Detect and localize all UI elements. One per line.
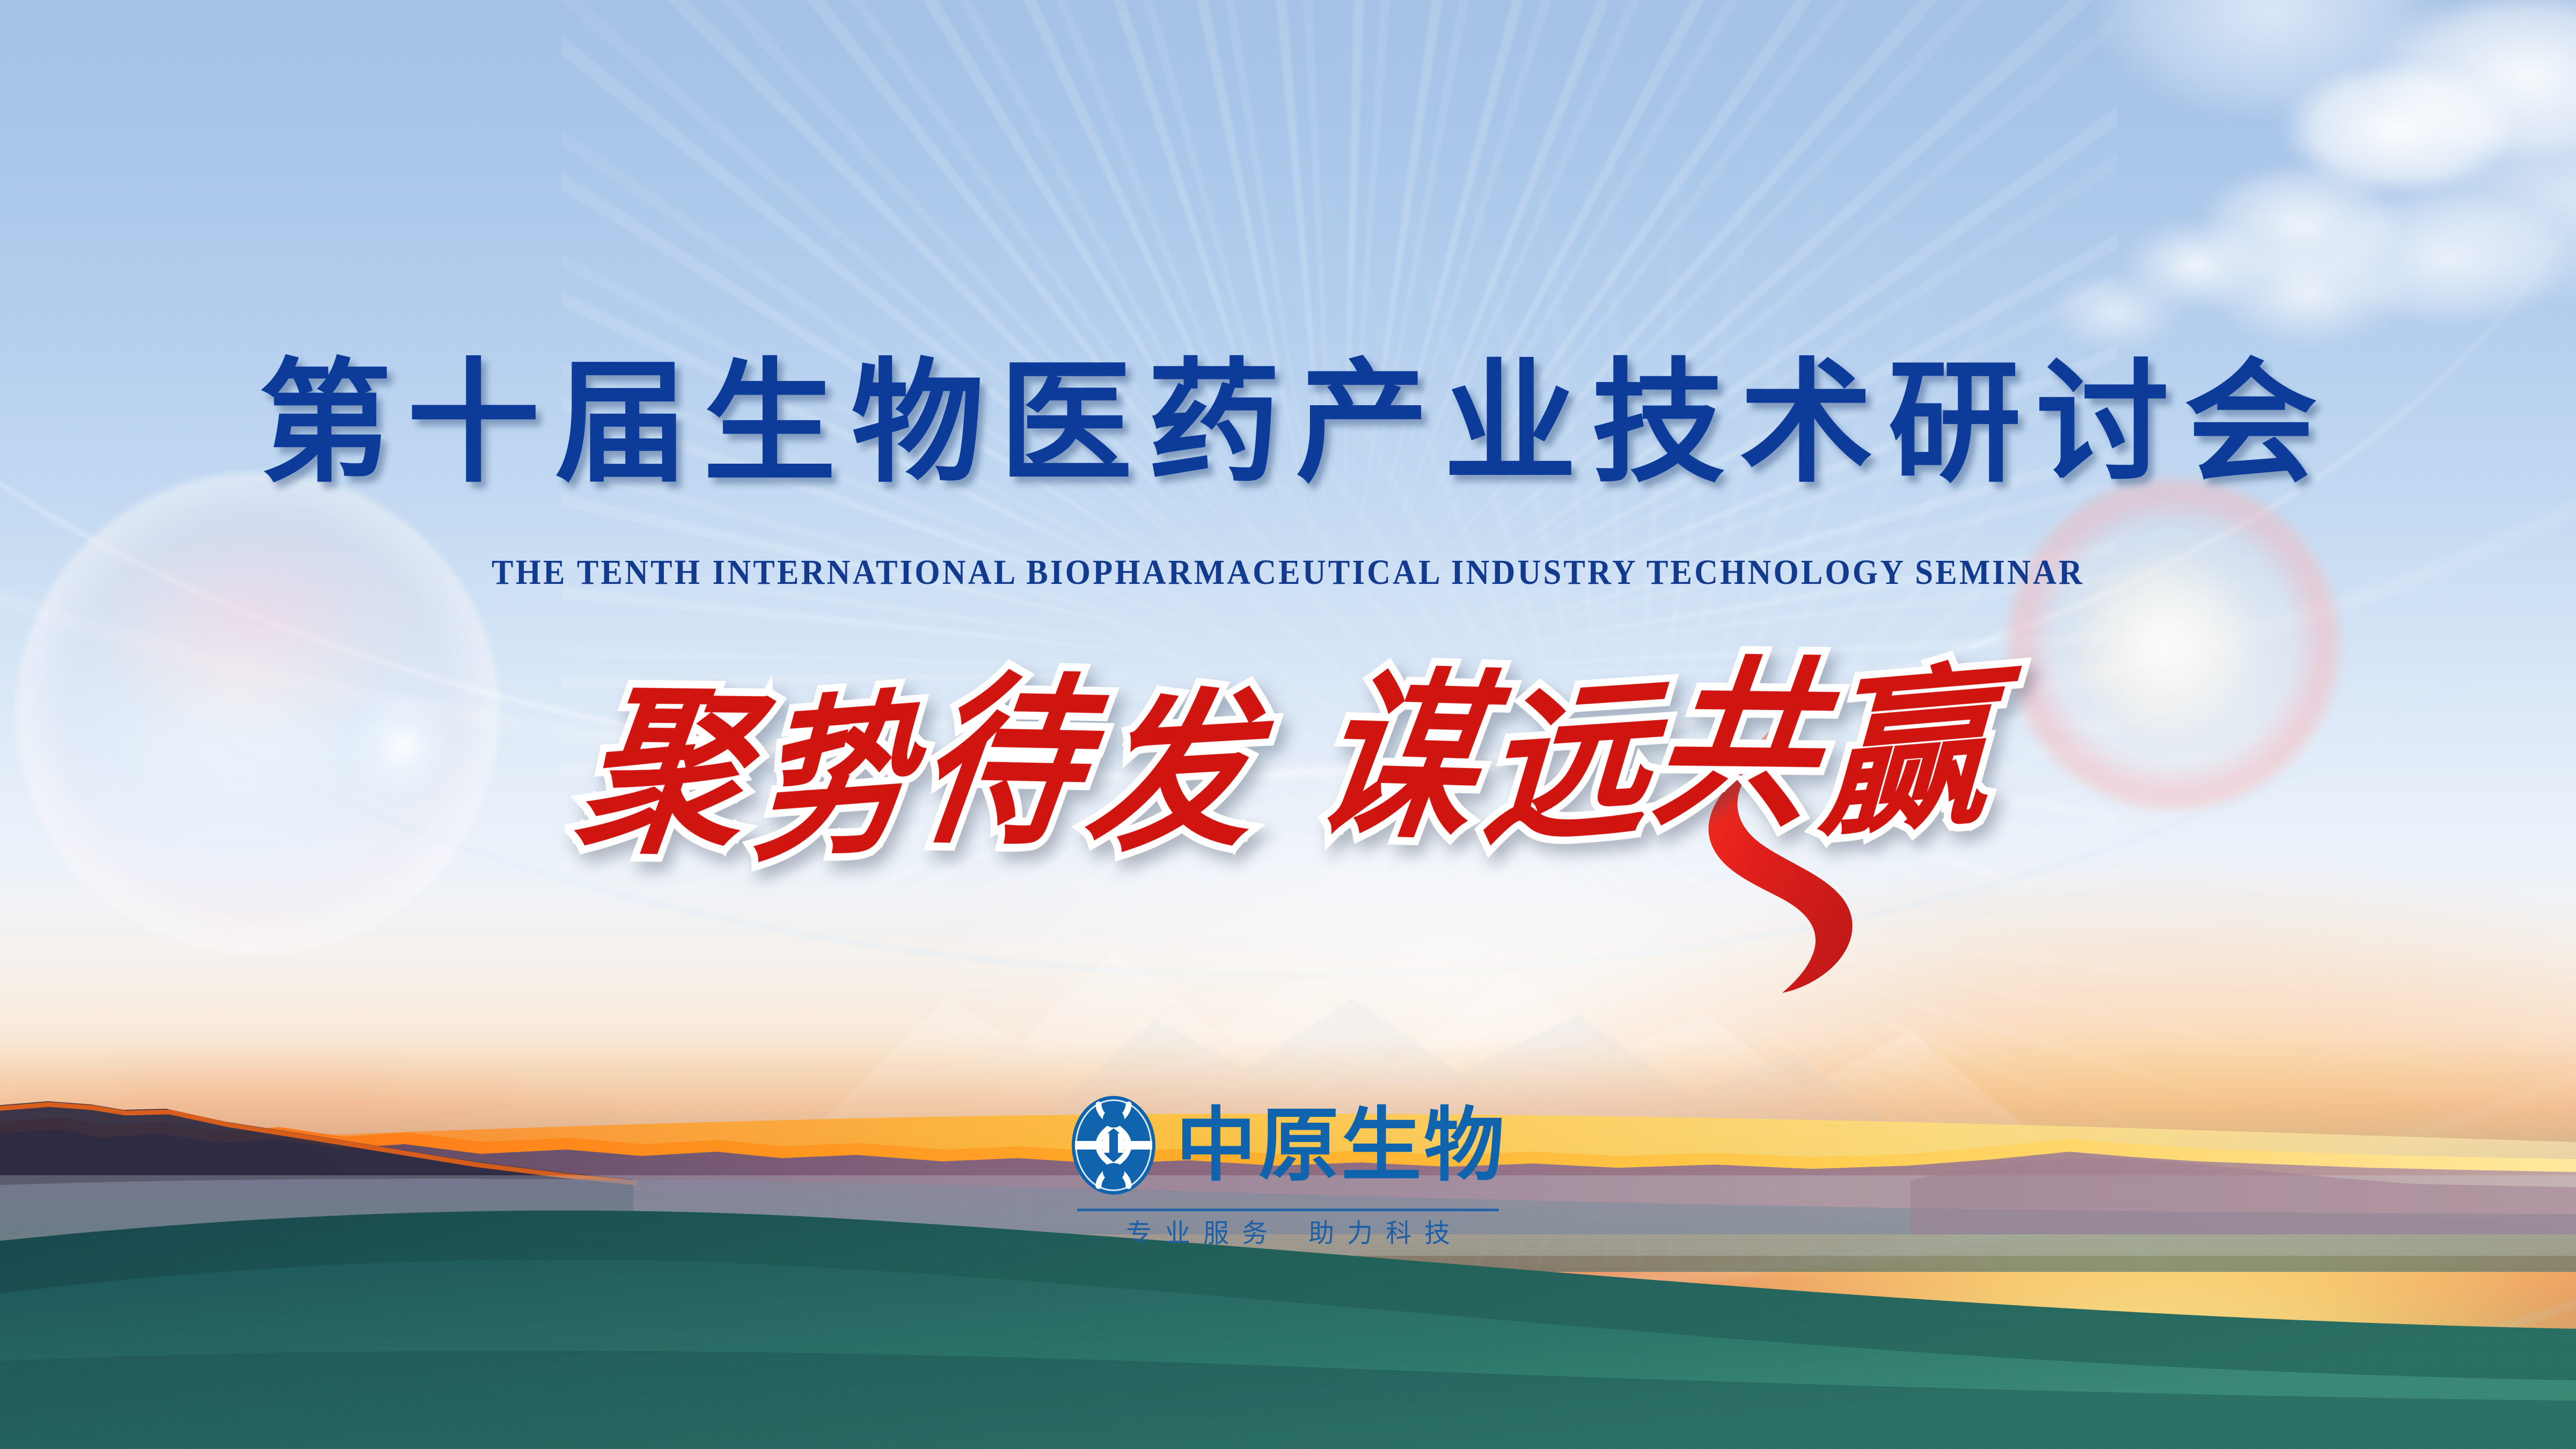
company-tagline: 专业服务助力科技 [1113,1221,1463,1247]
slogan-calligraphy: 聚势待发谋远共赢 [575,664,2002,857]
slogan-char: 势 [750,686,921,872]
slogan-char: 待 [909,669,1103,856]
company-logo: 中原生物 专业服务助力科技 [0,1094,2576,1247]
slogan-char: 共 [1644,653,1837,837]
tagline-left: 专业服务 [1126,1219,1280,1248]
tagline-right: 助力科技 [1308,1219,1463,1248]
page-title: 第十届生物医药产业技术研讨会 [0,356,2576,489]
poster-content: 第十届生物医药产业技术研讨会 THE TENTH INTERNATIONAL B… [0,0,2576,1449]
company-name: 中原生物 [1176,1105,1506,1185]
slogan-char: 发 [1080,684,1267,862]
slogan-char: 赢 [1816,658,2001,846]
slogan-char: 聚 [569,680,765,863]
logo-row: 中原生物 [1070,1094,1506,1197]
slogan-block: 聚势待发谋远共赢 [0,680,2576,1013]
poster-canvas: 第十届生物医药产业技术研讨会 THE TENTH INTERNATIONAL B… [0,0,2576,1449]
page-subtitle: THE TENTH INTERNATIONAL BIOPHARMACEUTICA… [103,555,2473,590]
slogan-char: 谋 [1306,664,1498,849]
dna-helix-oval-emblem-icon [1070,1094,1158,1197]
logo-divider-rule [1077,1209,1499,1211]
slogan-spacer [1253,817,1312,818]
slogan-char: 远 [1479,672,1662,854]
